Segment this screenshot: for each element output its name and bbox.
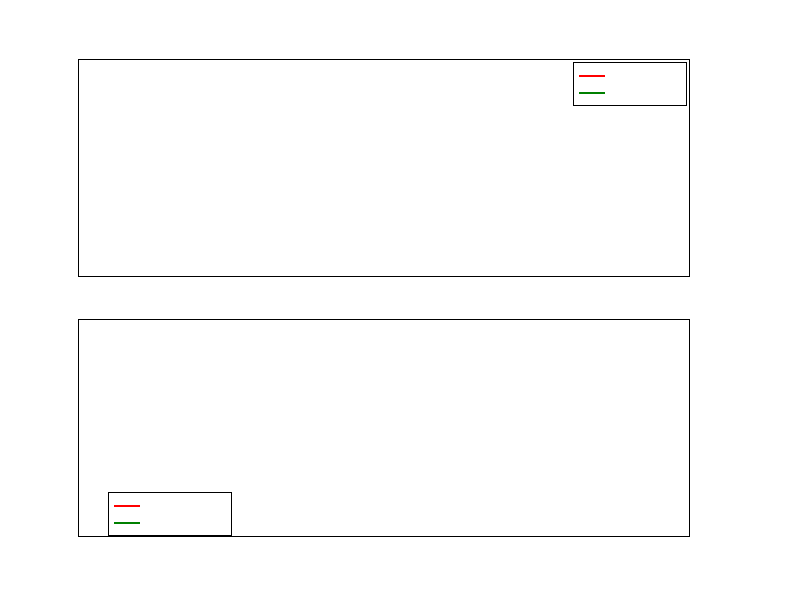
legend-item [114,497,225,514]
legend-item [579,67,680,84]
figure-canvas [0,0,800,600]
top-panel-legend [573,62,687,106]
legend-item [579,84,680,101]
bottom-panel-legend [108,492,232,536]
legend-swatch-xx1 [579,75,605,77]
legend-swatch-yy2 [114,522,140,524]
legend-item [114,514,225,531]
legend-swatch-yy1 [579,92,605,94]
legend-swatch-xx2 [114,505,140,507]
